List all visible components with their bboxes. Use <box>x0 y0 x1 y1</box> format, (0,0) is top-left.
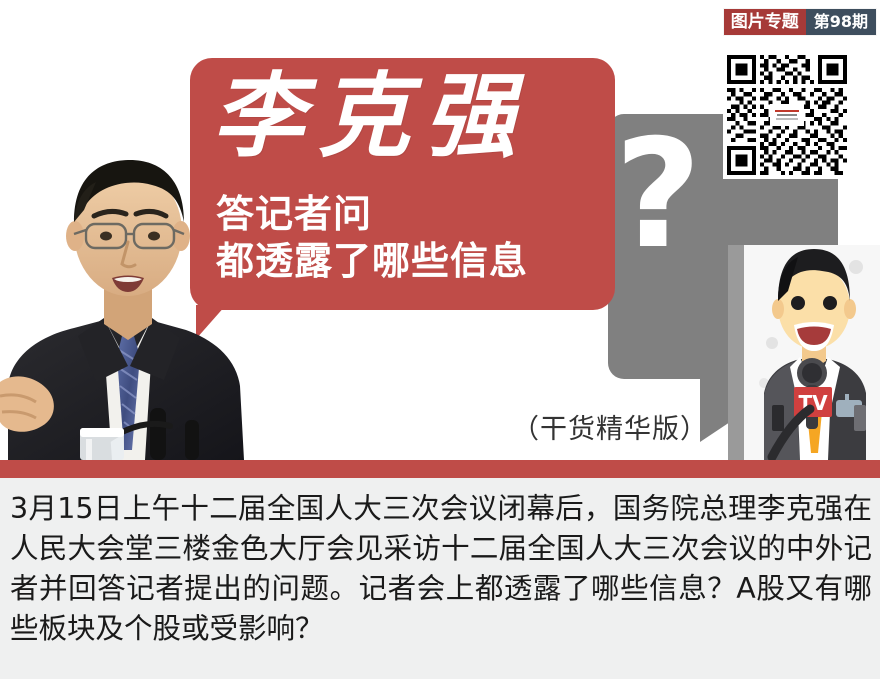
badge-issue-label: 第98期 <box>806 9 876 35</box>
infographic-page: 图片专题 第98期 <box>0 0 880 679</box>
red-divider-bar <box>0 460 880 478</box>
qr-code[interactable] <box>723 51 851 179</box>
qr-logo-bar-primary <box>775 110 799 112</box>
question-mark-glyph: ? <box>608 120 708 270</box>
premier-photo <box>0 150 270 460</box>
badge-series-label: 图片专题 <box>724 9 806 35</box>
edition-caption: （干货精华版） <box>512 414 708 446</box>
issue-badge: 图片专题 第98期 <box>724 9 876 35</box>
headline-name: 李克强 <box>212 62 602 171</box>
qr-logo-bar-secondary <box>777 114 797 116</box>
summary-paragraph: 3月15日上午十二届全国人大三次会议闭幕后，国务院总理李克强在人民大会堂三楼金色… <box>10 489 872 649</box>
reporter-illustration: TV <box>728 245 880 460</box>
qr-center-logo <box>770 104 804 126</box>
summary-block: 3月15日上午十二届全国人大三次会议闭幕后，国务院总理李克强在人民大会堂三楼金色… <box>0 478 880 679</box>
qr-logo-bar-tertiary <box>776 118 798 120</box>
